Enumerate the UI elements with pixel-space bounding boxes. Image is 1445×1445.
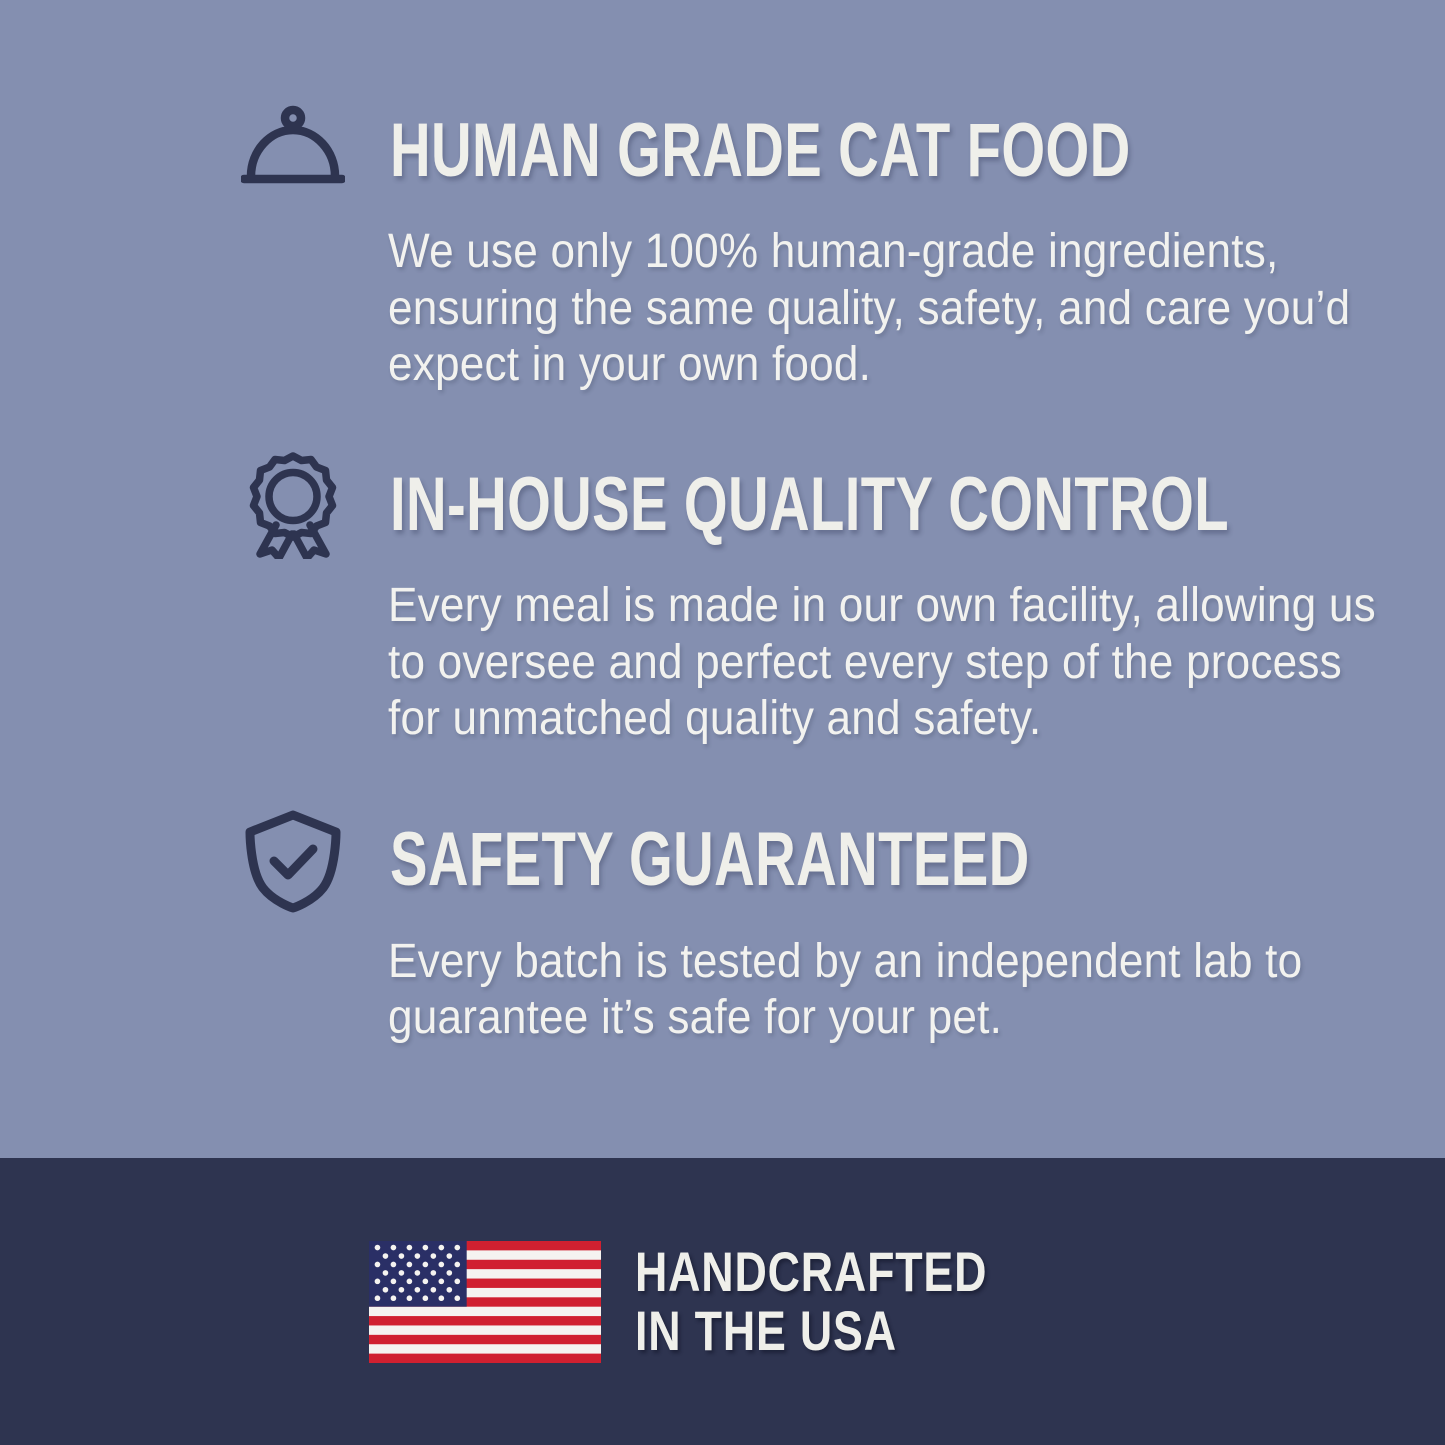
feature-block-human-grade: HUMAN GRADE CAT FOOD We use only 100% hu… (0, 96, 1445, 394)
feature-body-line: expect in your own food. (388, 337, 1360, 394)
feature-body: Every meal is made in our own facility, … (388, 578, 1360, 748)
footer-band: HANDCRAFTED IN THE USA (0, 1158, 1445, 1445)
feature-title: SAFETY GUARANTEED (390, 825, 1030, 896)
section-spacer (0, 394, 1445, 450)
footer-line-1: HANDCRAFTED (635, 1243, 987, 1301)
feature-body-line: We use only 100% human-grade ingredients… (388, 224, 1360, 281)
usa-flag-icon (369, 1241, 601, 1363)
feature-header: HUMAN GRADE CAT FOOD (0, 96, 1445, 206)
section-spacer (0, 748, 1445, 806)
feature-header: SAFETY GUARANTEED (0, 806, 1445, 916)
footer-text: HANDCRAFTED IN THE USA (635, 1243, 987, 1359)
feature-block-quality-control: IN-HOUSE QUALITY CONTROL Every meal is m… (0, 450, 1445, 748)
feature-body-line: to oversee and perfect every step of the… (388, 635, 1360, 692)
feature-body: Every batch is tested by an independent … (388, 934, 1360, 1047)
shield-check-icon (238, 806, 348, 916)
feature-body-line: ensuring the same quality, safety, and c… (388, 281, 1360, 338)
promo-poster: HUMAN GRADE CAT FOOD We use only 100% hu… (0, 0, 1445, 1445)
features-panel: HUMAN GRADE CAT FOOD We use only 100% hu… (0, 0, 1445, 1158)
feature-title: IN-HOUSE QUALITY CONTROL (390, 470, 1229, 541)
feature-header: IN-HOUSE QUALITY CONTROL (0, 450, 1445, 560)
feature-body-line: for unmatched quality and safety. (388, 691, 1360, 748)
feature-body-line: Every meal is made in our own facility, … (388, 578, 1360, 635)
feature-title: HUMAN GRADE CAT FOOD (390, 116, 1131, 187)
award-ribbon-icon (238, 450, 348, 560)
feature-body: We use only 100% human-grade ingredients… (388, 224, 1360, 394)
footer-line-2: IN THE USA (635, 1302, 987, 1360)
feature-body-line: Every batch is tested by an independent … (388, 934, 1360, 991)
cloche-icon (238, 96, 348, 206)
feature-body-line: guarantee it’s safe for your pet. (388, 990, 1360, 1047)
feature-block-safety: SAFETY GUARANTEED Every batch is tested … (0, 806, 1445, 1047)
